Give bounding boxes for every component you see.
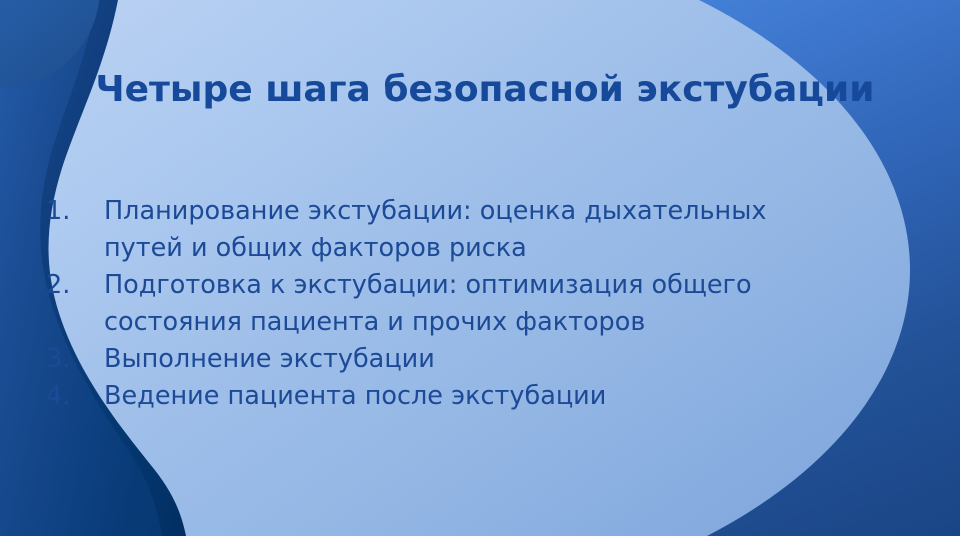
list-item: 3. Выполнение экстубации (46, 341, 846, 378)
list-item-text: Планирование экстубации: оценка дыхатель… (104, 193, 846, 267)
slide-body-list: 1. Планирование экстубации: оценка дыхат… (46, 193, 846, 415)
list-item: 1. Планирование экстубации: оценка дыхат… (46, 193, 846, 267)
list-item-number: 1. (46, 193, 104, 230)
slide-bottom-strip (0, 536, 960, 540)
list-item: 2. Подготовка к экстубации: оптимизация … (46, 267, 846, 341)
presentation-slide: Четыре шага безопасной экстубации 1. Пла… (0, 0, 960, 540)
list-item-number: 3. (46, 341, 104, 378)
list-item-number: 2. (46, 267, 104, 304)
list-item-text: Выполнение экстубации (104, 341, 846, 378)
list-item: 4. Ведение пациента после экстубации (46, 378, 846, 415)
list-item-text: Ведение пациента после экстубации (104, 378, 846, 415)
list-item-text: Подготовка к экстубации: оптимизация общ… (104, 267, 846, 341)
list-item-number: 4. (46, 378, 104, 415)
slide-title: Четыре шага безопасной экстубации (40, 68, 930, 112)
